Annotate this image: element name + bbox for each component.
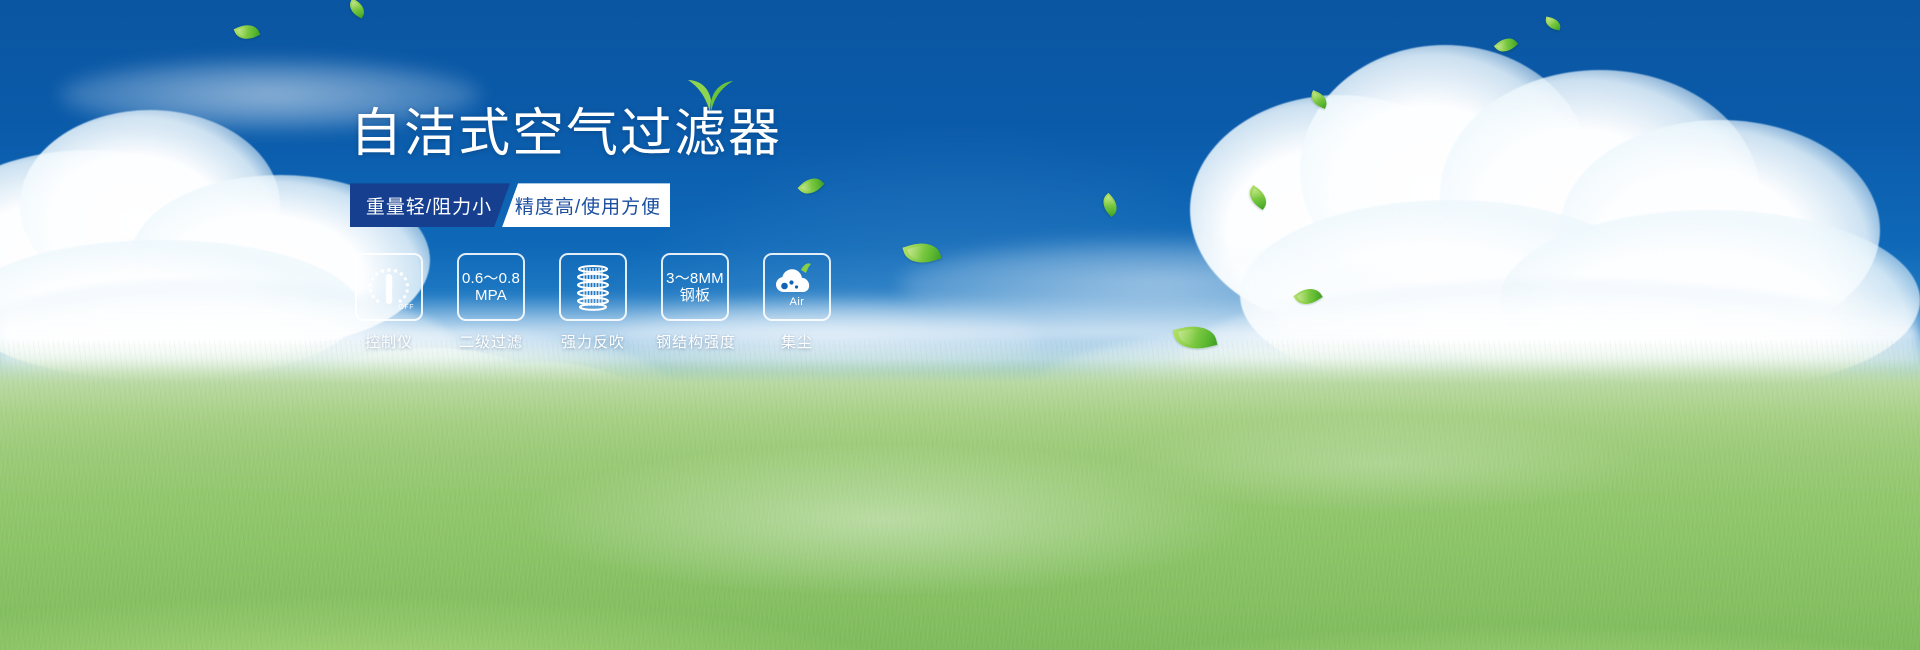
feature-list: NO OFF 控制仪 0.6～0.8 MPA 二级过滤 [350, 253, 870, 352]
feature-item-steel[interactable]: 3～8MM 钢板 钢结构强度 [656, 253, 734, 352]
hero-banner: 自洁式空气过滤器 重量轻/阻力小 精度高/使用方便 [0, 0, 1920, 650]
feature-icon-box: 3～8MM 钢板 [661, 253, 729, 321]
cloud-shape [1440, 70, 1760, 320]
badge-lightweight[interactable]: 重量轻/阻力小 [350, 183, 510, 227]
feature-label: 钢结构强度 [656, 331, 734, 352]
feature-item-blowback[interactable]: 强力反吹 [554, 253, 632, 352]
feature-icon-box: 0.6～0.8 MPA [457, 253, 525, 321]
leaf-icon [346, 0, 368, 19]
leaf-icon [234, 20, 261, 44]
badge-precision[interactable]: 精度高/使用方便 [502, 183, 670, 227]
cloud-shape [900, 240, 1420, 330]
pressure-text-icon: 0.6～0.8 MPA [462, 270, 520, 305]
cloud-shape [1300, 45, 1590, 295]
feature-label: 强力反吹 [554, 331, 632, 352]
leaf-icon [1245, 185, 1272, 210]
steel-plate-text-icon: 3～8MM 钢板 [666, 270, 724, 305]
leaf-icon [902, 237, 941, 268]
cloud-shape [1560, 120, 1880, 340]
badge-label: 重量轻/阻力小 [366, 192, 492, 219]
gauge-off-label: OFF [399, 304, 415, 311]
cloud-shape [1190, 95, 1490, 325]
cloud-shape [20, 110, 280, 300]
filter-coil-icon [570, 263, 616, 311]
leaf-icon [1098, 193, 1122, 217]
feature-icon-box [559, 253, 627, 321]
badge-label: 精度高/使用方便 [515, 192, 661, 219]
feature-label: 二级过滤 [452, 331, 530, 352]
feature-item-filtration[interactable]: 0.6～0.8 MPA 二级过滤 [452, 253, 530, 352]
feature-item-control[interactable]: NO OFF 控制仪 [350, 253, 428, 352]
leaf-icon [1494, 33, 1518, 57]
leaf-icon [1308, 90, 1330, 109]
page-title: 自洁式空气过滤器 [350, 104, 782, 165]
banner-content: 自洁式空气过滤器 重量轻/阻力小 精度高/使用方便 [350, 104, 870, 352]
feature-label: 控制仪 [350, 331, 428, 352]
feature-icon-box: NO OFF [355, 253, 423, 321]
feature-item-dust[interactable]: Air 集尘 [758, 253, 836, 352]
title-wrap: 自洁式空气过滤器 [350, 104, 782, 165]
air-label: Air [765, 296, 829, 308]
cloud-shape [0, 150, 260, 350]
leaf-icon [1544, 16, 1562, 30]
sprout-leaf-icon [684, 76, 736, 112]
badge-group: 重量轻/阻力小 精度高/使用方便 [350, 183, 670, 227]
gauge-no-label: NO [362, 285, 374, 292]
leaf-icon [1293, 283, 1322, 311]
grass-field [0, 340, 1920, 650]
feature-label: 集尘 [758, 331, 836, 352]
feature-icon-box: Air [763, 253, 831, 321]
